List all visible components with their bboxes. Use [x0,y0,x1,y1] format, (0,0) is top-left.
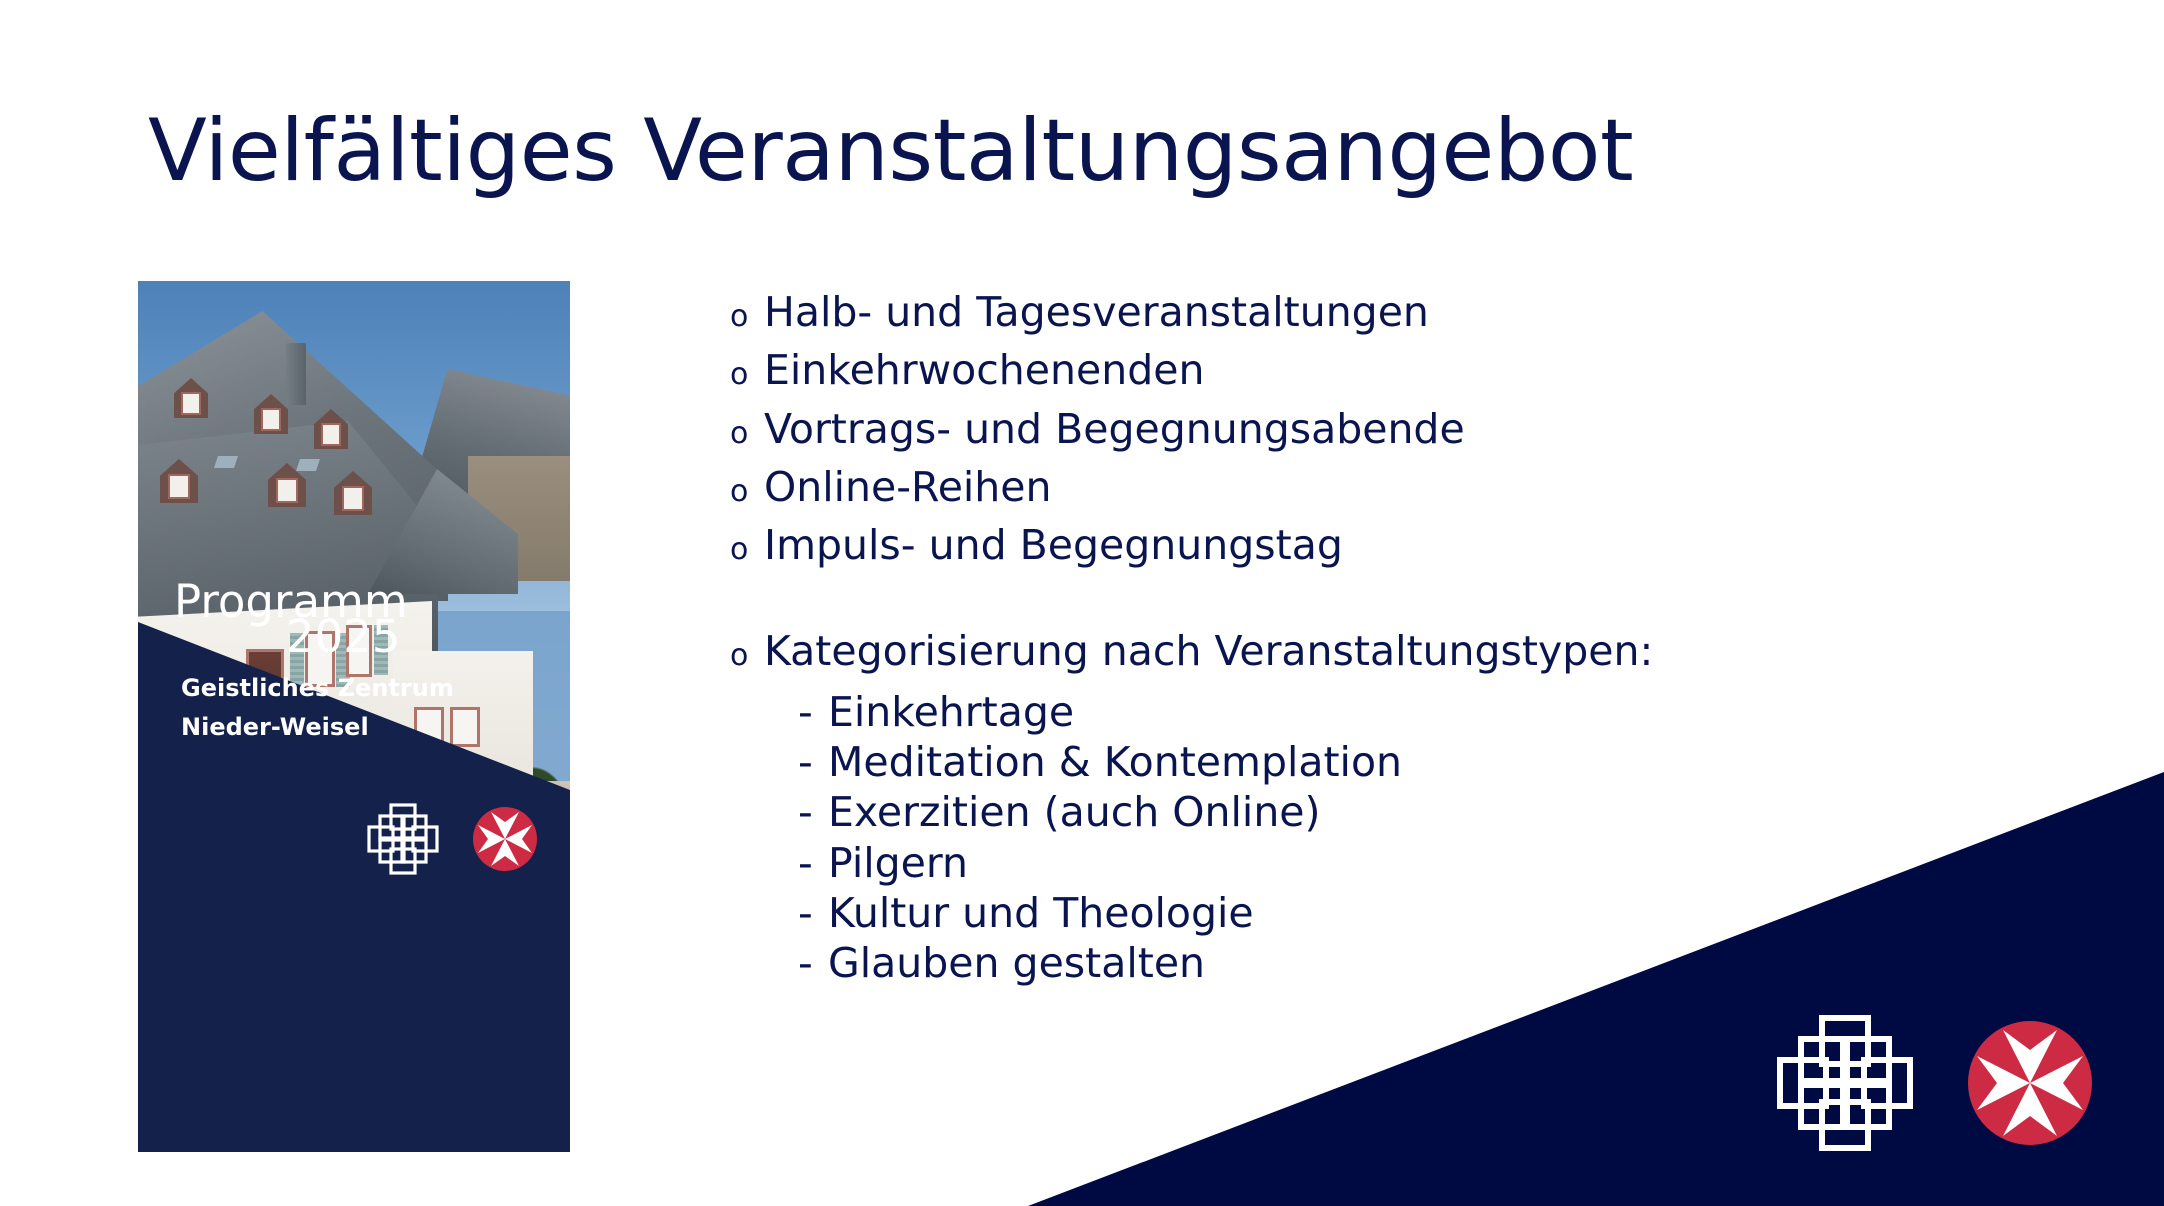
dash-marker-icon: - [798,939,828,987]
dash-marker-icon: - [798,688,828,736]
bullet-marker-icon: o [730,535,764,565]
list-item-label: Online-Reihen [764,465,1052,509]
list-item-label: Meditation & Kontemplation [828,738,1402,786]
bullet-marker-icon: o [730,419,764,449]
bullet-marker-icon: o [730,641,764,671]
list-item-label: Glauben gestalten [828,939,1205,987]
list-spacer [730,581,1950,629]
corner-logo-pair [1765,1008,2115,1158]
list-item-label: Pilgern [828,839,968,887]
bullet-marker-icon: o [730,477,764,507]
dash-marker-icon: - [798,788,828,836]
list-item: - Pilgern [798,839,1950,887]
list-item-label: Einkehrtage [828,688,1074,736]
dash-marker-icon: - [798,839,828,887]
brochure-logo-pair [360,799,550,879]
bullet-marker-icon: o [730,302,764,332]
list-item: - Exerzitien (auch Online) [798,788,1950,836]
list-item-label: Kategorisierung nach Veranstaltungstypen… [764,629,1653,673]
brochure-card: Programm 2025 Geistliches Zentrum Nieder… [138,281,570,1152]
list-item-label: Kultur und Theologie [828,889,1254,937]
list-item: o Halb- und Tagesveranstaltungen [730,290,1950,334]
list-item-label: Exerzitien (auch Online) [828,788,1321,836]
brochure-center-line-2: Nieder-Weisel [181,715,369,739]
bullet-list: o Halb- und Tagesveranstaltungen o Einke… [730,290,1950,990]
list-item: - Einkehrtage [798,688,1950,736]
list-item: - Kultur und Theologie [798,889,1950,937]
slide: Vielfältiges Veranstaltungsangebot [0,0,2164,1206]
list-item: o Vortrags- und Begegnungsabende [730,407,1950,451]
page-title: Vielfältiges Veranstaltungsangebot [148,104,1633,199]
list-item-label: Halb- und Tagesveranstaltungen [764,290,1429,334]
list-item: - Glauben gestalten [798,939,1950,987]
johanniter-cross-icon [369,805,437,873]
list-item: o Online-Reihen [730,465,1950,509]
list-item-label: Einkehrwochenenden [764,348,1204,392]
category-sub-list: - Einkehrtage - Meditation & Kontemplati… [798,688,1950,988]
list-item: o Impuls- und Begegnungstag [730,523,1950,567]
bullet-marker-icon: o [730,360,764,390]
brochure-year: 2025 [286,614,401,659]
list-item-label: Impuls- und Begegnungstag [764,523,1343,567]
list-item-label: Vortrags- und Begegnungsabende [764,407,1465,451]
list-item-category-heading: o Kategorisierung nach Veranstaltungstyp… [730,629,1950,673]
maltese-cross-icon [473,807,537,871]
list-item: o Einkehrwochenenden [730,348,1950,392]
list-item: - Meditation & Kontemplation [798,738,1950,786]
johanniter-cross-icon [1780,1018,1910,1148]
maltese-cross-icon [1968,1021,2092,1145]
brochure-center-line-1: Geistliches Zentrum [181,676,454,700]
brochure-text-block: Programm 2025 Geistliches Zentrum Nieder… [138,281,570,1152]
dash-marker-icon: - [798,738,828,786]
dash-marker-icon: - [798,889,828,937]
